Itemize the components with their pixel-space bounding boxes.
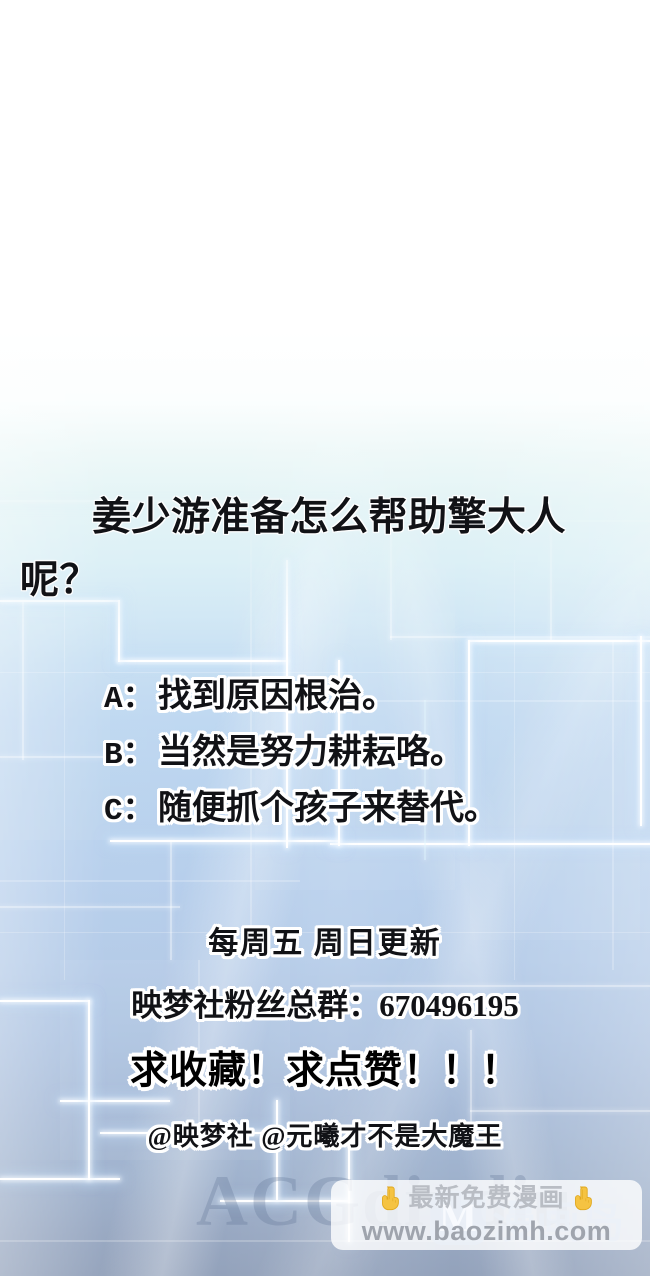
baozimh-watermark-box[interactable]: 最新免费漫画 www.baozimh.com (331, 1180, 642, 1250)
baozimh-tagline-row: 最新免费漫画 (378, 1185, 594, 1212)
baozimh-tagline: 最新免费漫画 (408, 1186, 564, 1211)
answer-options-list: A： 找到原因根治。 B： 当然是努力耕耘咯。 C： 随便抓个孩子来替代。 (104, 680, 624, 848)
chapter-end-panel: ACGdiudiu M 漫画岛 姜少游准备怎么帮助擎大人呢？ A： 找到原因根治… (0, 0, 650, 1276)
question-text: 姜少游准备怎么帮助擎大人呢？ (20, 486, 636, 612)
option-c-text: 随便抓个孩子来替代。 (158, 792, 498, 826)
answer-option-b: B： 当然是努力耕耘咯。 (104, 736, 624, 771)
panel-content: 姜少游准备怎么帮助擎大人呢？ A： 找到原因根治。 B： 当然是努力耕耘咯。 C… (0, 0, 650, 1276)
option-c-key: C： (104, 796, 158, 827)
answer-option-c: C： 随便抓个孩子来替代。 (104, 792, 624, 827)
pointing-down-hand-icon-left (378, 1185, 402, 1212)
credits-text: @映梦社 @元曦才不是大魔王 (0, 1116, 650, 1153)
option-a-key: A： (104, 684, 158, 715)
answer-option-a: A： 找到原因根治。 (104, 680, 624, 715)
option-b-key: B： (104, 740, 158, 771)
option-b-text: 当然是努力耕耘咯。 (158, 736, 464, 770)
call-to-action-text: 求收藏！求点赞！！！ (0, 1039, 650, 1094)
update-schedule-text: 每周五 周日更新 (0, 918, 650, 962)
option-a-text: 找到原因根治。 (158, 680, 396, 714)
baozimh-url[interactable]: www.baozimh.com (362, 1218, 612, 1245)
promo-block: 每周五 周日更新 映梦社粉丝总群：670496195 求收藏！求点赞！！！ @映… (0, 918, 650, 1153)
pointing-down-hand-icon-right (571, 1185, 595, 1212)
fan-group-text: 映梦社粉丝总群：670496195 (0, 980, 650, 1025)
